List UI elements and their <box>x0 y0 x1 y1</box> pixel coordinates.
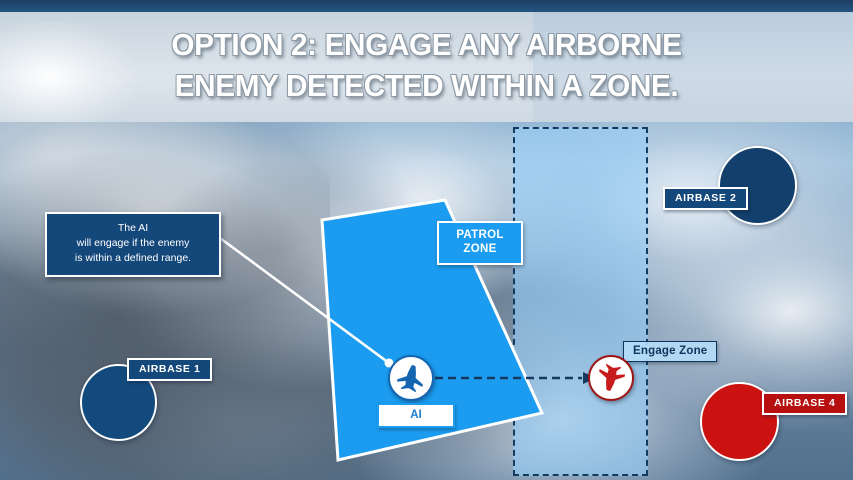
airbase-2-label: AIRBASE 2 <box>663 187 748 210</box>
airbase-4-label: AIRBASE 4 <box>762 392 847 415</box>
engage-zone-label: Engage Zone <box>623 341 717 362</box>
callout-line-1: The AI <box>57 221 209 236</box>
enemy-fighter-jet-icon <box>595 362 627 394</box>
callout-line-2: will engage if the enemy <box>57 236 209 251</box>
patrol-zone-label-line-2: ZONE <box>463 243 496 255</box>
ai-marker-label: AI <box>377 403 455 428</box>
airbase-2-circle[interactable] <box>718 146 797 225</box>
page-title-line-2: ENEMY DETECTED WITHIN A ZONE. <box>17 65 836 106</box>
storm-cloud-left <box>0 130 330 480</box>
enemy-aircraft-marker[interactable] <box>588 355 634 401</box>
patrol-zone-label-line-1: PATROL <box>456 229 503 241</box>
page-title-line-1: OPTION 2: ENGAGE ANY AIRBORNE <box>17 24 836 65</box>
fighter-jet-icon <box>395 362 427 394</box>
airbase-1-label: AIRBASE 1 <box>127 358 212 381</box>
callout-line-3: is within a defined range. <box>57 251 209 266</box>
page-title: OPTION 2: ENGAGE ANY AIRBORNE ENEMY DETE… <box>17 24 836 106</box>
ai-engagement-callout: The AI will engage if the enemy is withi… <box>45 212 221 277</box>
top-accent-strip <box>0 0 853 12</box>
patrol-zone-label: PATROL ZONE <box>437 221 523 265</box>
ai-aircraft-marker[interactable] <box>388 355 434 401</box>
slide-canvas: OPTION 2: ENGAGE ANY AIRBORNE ENEMY DETE… <box>0 0 853 480</box>
